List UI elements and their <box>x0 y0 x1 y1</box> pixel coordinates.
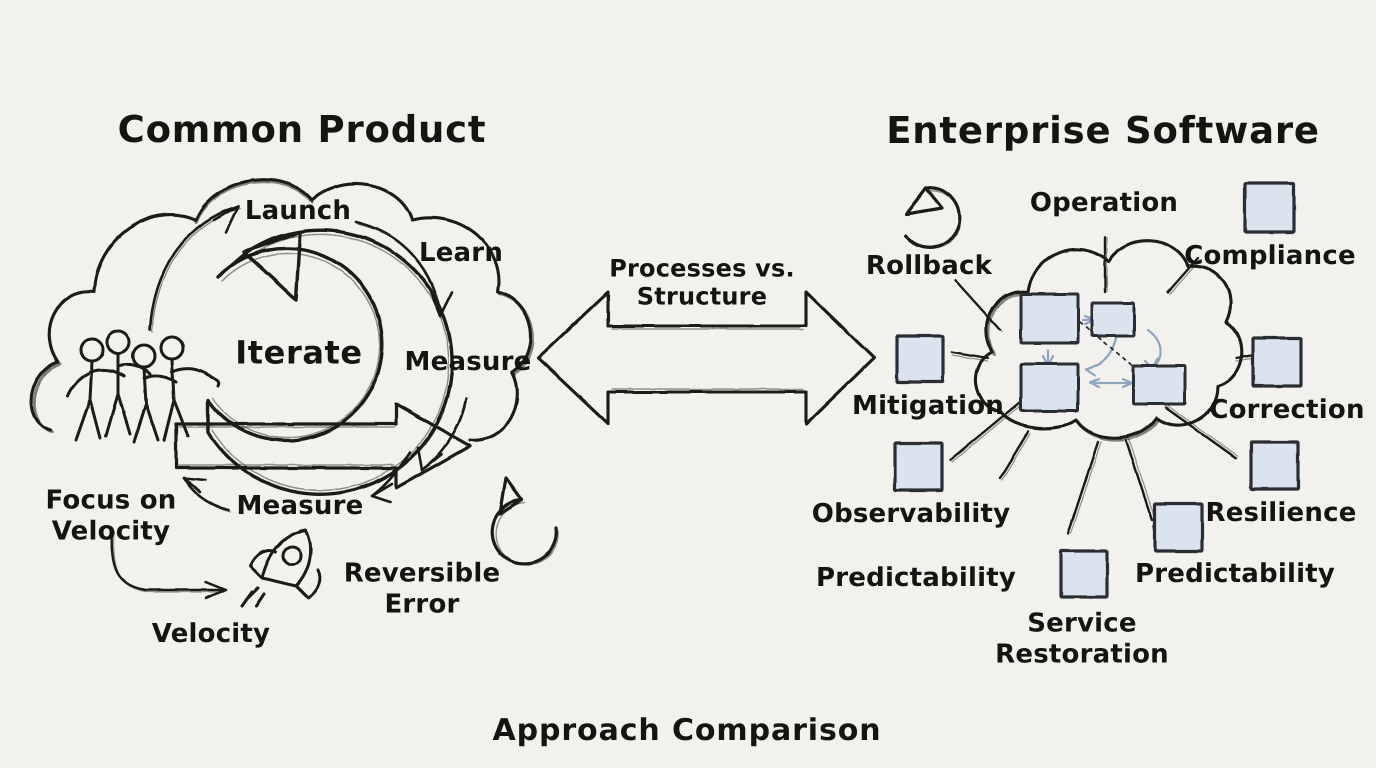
label-processes-vs-structure: Processes vs. Structure <box>609 255 795 312</box>
label-resilience: Resilience <box>1205 499 1356 527</box>
label-predictability-right: Predictability <box>1135 560 1335 588</box>
learn-arrow <box>356 222 452 318</box>
double-headed-arrow-shadow <box>612 329 803 389</box>
label-service-restoration: Service Restoration <box>995 608 1169 669</box>
label-measure-right: Measure <box>405 348 532 376</box>
cloud-box-3 <box>1021 364 1078 411</box>
measure-bottom-arrow <box>184 478 230 512</box>
label-mitigation: Mitigation <box>852 392 1004 420</box>
cloud-box-4 <box>1133 366 1185 404</box>
circular-arrow-icon <box>492 478 558 565</box>
square-mitigation-b <box>897 336 943 382</box>
rocket-icon <box>242 530 320 606</box>
cloud-box-2 <box>1092 303 1134 336</box>
square-observability <box>895 443 942 490</box>
label-rollback: Rollback <box>866 252 992 280</box>
square-resilience <box>1251 442 1298 489</box>
label-launch: Launch <box>245 197 351 225</box>
label-measure-bottom: Measure <box>237 492 364 520</box>
label-operation: Operation <box>1030 189 1178 217</box>
label-reversible-error: Reversible Error <box>344 558 501 619</box>
label-compliance: Compliance <box>1184 242 1356 270</box>
square-predictability-right <box>1155 504 1202 551</box>
label-observability: Observability <box>812 500 1010 528</box>
diagram-caption: Approach Comparison <box>492 715 881 747</box>
square-compliance <box>1245 183 1294 232</box>
undo-arrow-icon <box>906 188 961 249</box>
cloud-box-1 <box>1021 294 1078 343</box>
label-focus-on-velocity: Focus on Velocity <box>46 485 177 546</box>
square-service-restoration <box>1061 551 1107 597</box>
left-panel-title: Common Product <box>118 110 487 150</box>
velocity-block-arrow-shadow <box>179 427 394 465</box>
right-panel-title: Enterprise Software <box>886 111 1320 151</box>
label-learn: Learn <box>419 239 503 267</box>
label-correction: Correction <box>1209 396 1364 424</box>
double-headed-arrow-icon <box>538 292 874 424</box>
square-correction <box>1253 338 1301 386</box>
label-velocity: Velocity <box>152 620 270 648</box>
label-predictability-left: Predictability <box>816 564 1016 592</box>
label-iterate: Iterate <box>235 336 362 371</box>
diagram-canvas: Common Product Launch Learn Measure Meas… <box>0 0 1376 768</box>
